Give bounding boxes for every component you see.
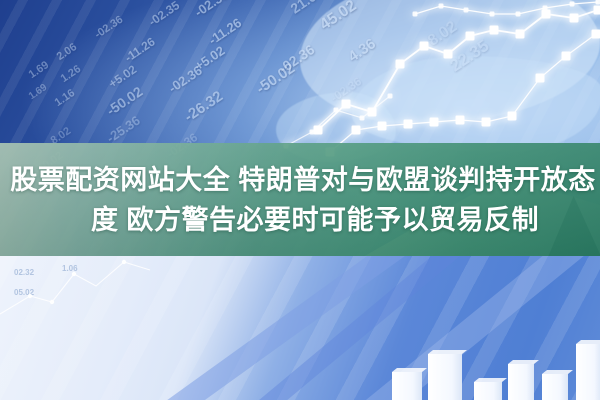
chart-line [318,10,598,130]
headline-line-1: 股票配资网站大全 特朗普对与欧盟谈判持开放态 [4,160,596,200]
chart-node-marker [439,4,444,9]
bar-column [428,354,462,400]
chart-node-marker [516,30,525,39]
promo-banner: -02.3621.0645.02-02.35-11.264.36-02.362.… [0,0,600,400]
chart-node-marker [413,12,418,17]
chart-node-marker [396,60,405,69]
chart-node-marker [314,126,323,135]
chart-line [286,96,390,146]
chart-node-marker [388,94,393,99]
chart-node-marker [592,30,600,39]
bar-column [576,344,600,400]
bar-top-face [508,360,539,364]
chart-node-marker [562,52,571,61]
headline-line-2: 度 欧方警告必要时可能予以贸易反制 [61,200,539,240]
chart-node-marker [596,0,600,5]
chart-node-marker [352,126,361,135]
chart-node-marker [430,118,439,127]
headline: 股票配资网站大全 特朗普对与欧盟谈判持开放态 度 欧方警告必要时可能予以贸易反制 [0,143,600,257]
chart-node-marker [570,14,579,23]
chart-node-marker [404,120,413,129]
chart-node-marker [444,50,453,59]
bar-column [542,374,568,400]
mini-ticker-sparkle: 02.321.0605.02 [0,256,170,326]
chart-node-marker [594,6,600,15]
chart-node-marker [516,12,521,17]
bar-top-face [428,350,467,354]
chart-node-marker [508,112,517,121]
chart-node-marker [360,116,365,121]
chart-line [330,34,596,152]
chart-node-marker [570,2,575,7]
bar-top-face [542,370,573,374]
chart-node-marker [490,12,495,17]
chart-node-marker [482,118,491,127]
bar-column [392,372,422,400]
bar-column [508,364,534,400]
bar-top-face [576,340,600,344]
chart-node-marker [378,122,387,131]
chart-node-marker [368,108,377,117]
bar-column [474,382,502,400]
chart-node-marker [490,26,499,35]
chart-node-marker [466,32,475,41]
chart-node-marker [310,130,315,135]
chart-node-marker [334,108,339,113]
bar-top-face [474,378,507,382]
chart-node-marker [456,116,465,125]
chart-node-marker [342,100,351,109]
sparkle-rays [0,256,170,326]
bar-top-face [392,368,427,372]
chart-node-marker [536,74,545,83]
chart-node-marker [542,10,551,19]
chart-node-marker [464,8,469,13]
chart-node-marker [420,42,429,51]
